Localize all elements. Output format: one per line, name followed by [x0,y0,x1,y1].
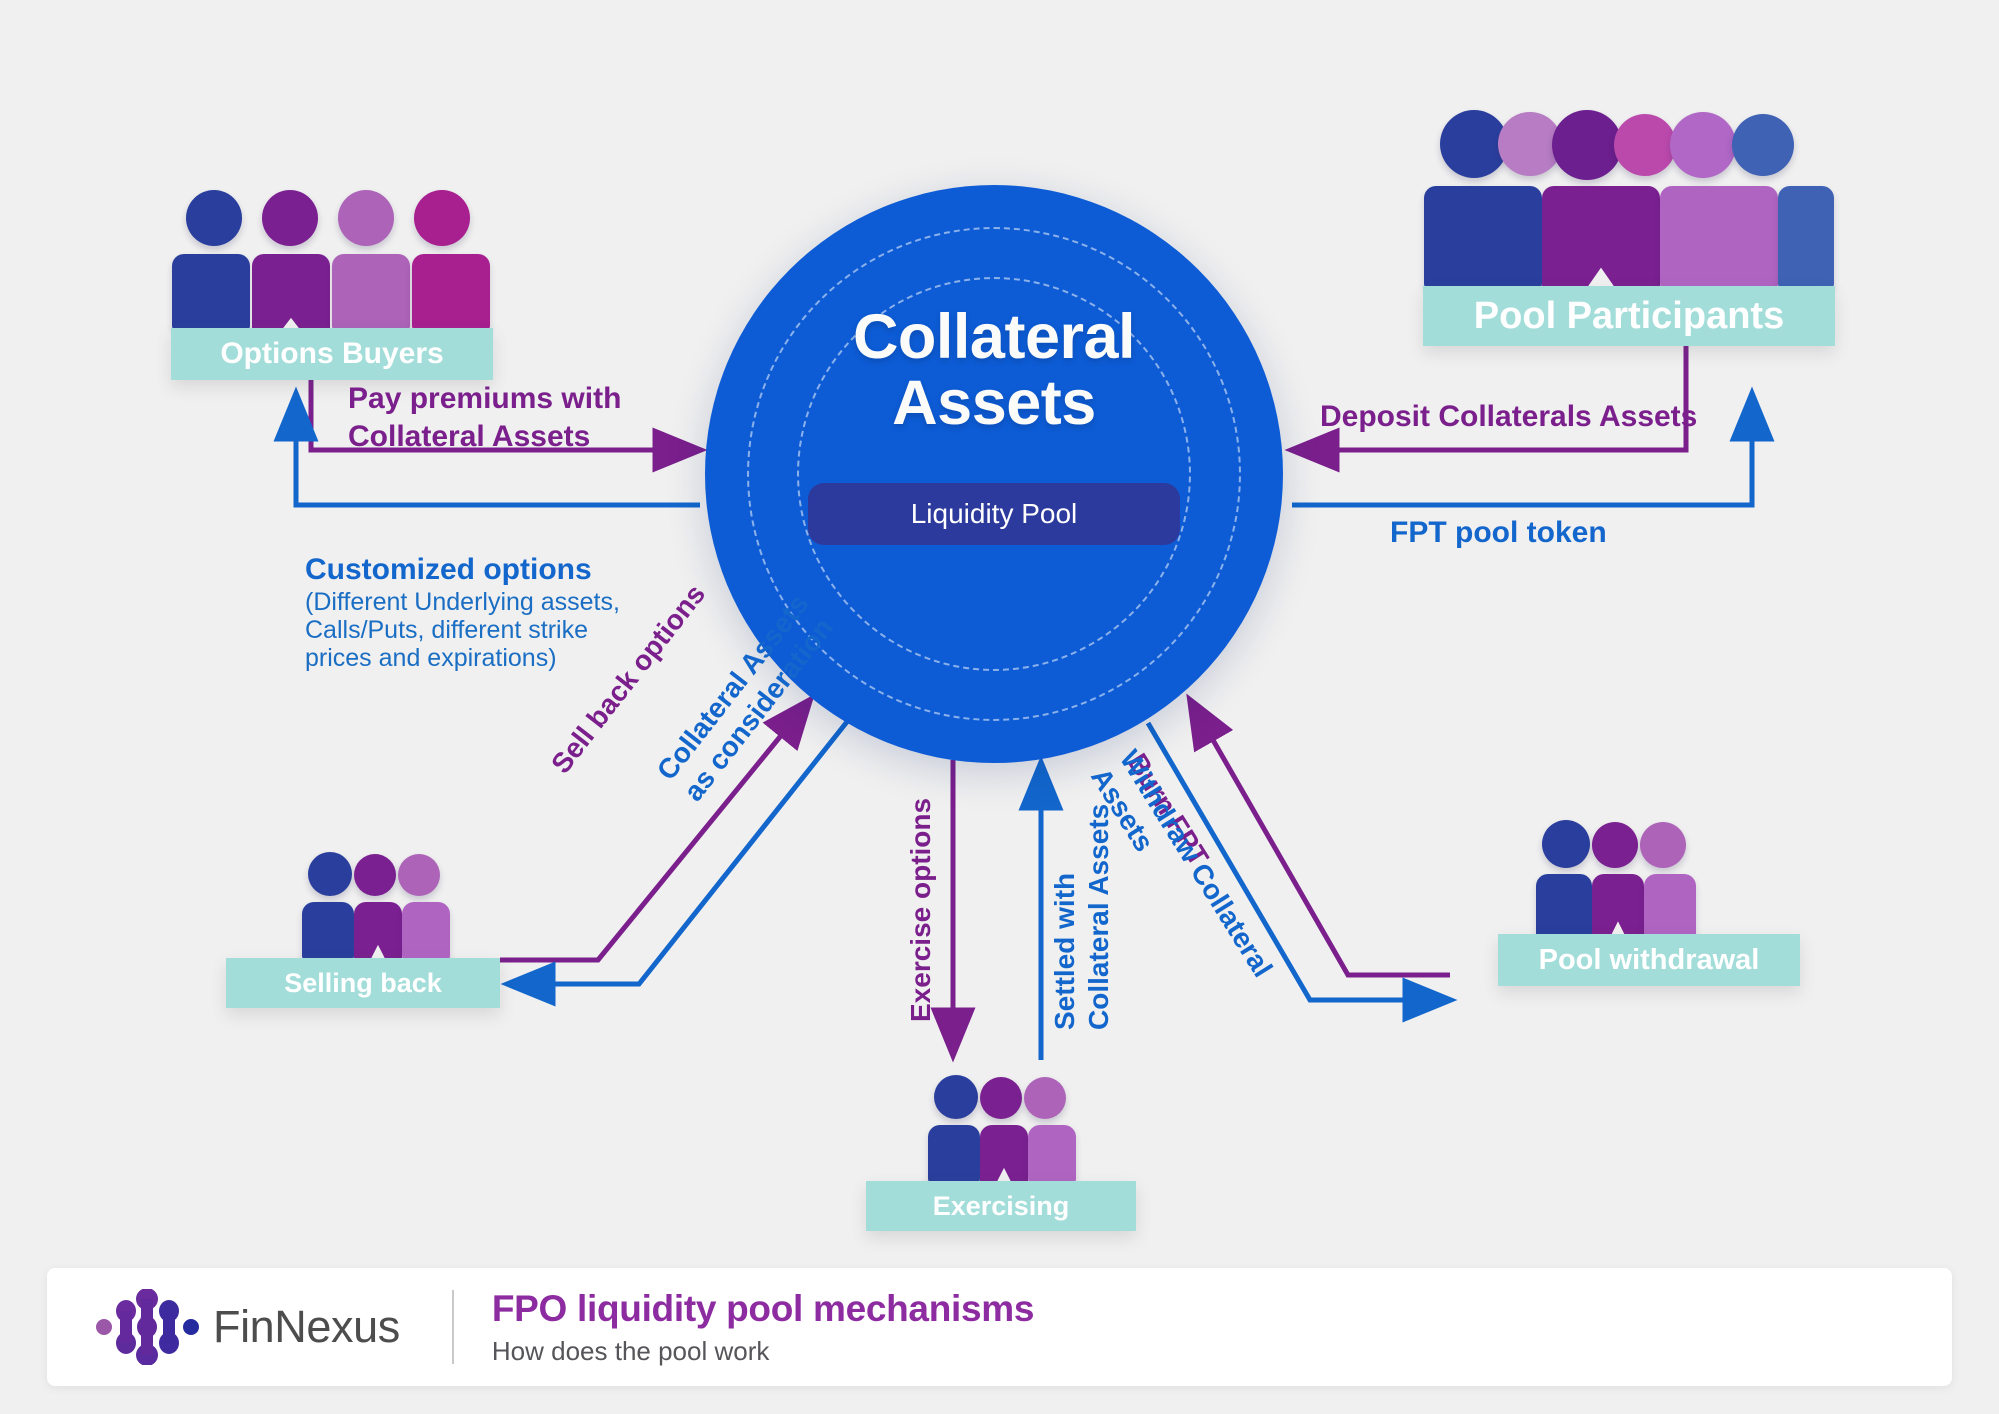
group-selling-back: Selling back [226,852,442,962]
person-body-icon [1660,186,1778,288]
finnexus-logo-icon [95,1289,199,1365]
person-body-icon [402,902,450,960]
group-pool-withdrawal: Pool withdrawal [1498,820,1686,938]
person-head-icon [354,854,396,896]
flow-label-customized-options: Customized options (Different Underlying… [305,516,620,708]
group-label-text: Pool Participants [1474,295,1784,338]
flow-label-exercise-options: Exercise options [905,798,937,1022]
person-head-icon [1614,114,1676,176]
person-head-icon [1592,822,1638,868]
pool-title: CollateralAssets [705,305,1283,436]
flow-label-pay-premiums: Pay premiums with Collateral Assets [348,380,621,455]
group-label-selling-back: Selling back [226,958,500,1008]
group-pool-participants: Pool Participants [1424,110,1834,288]
flow-label-settled-with-collateral: Settled with Collateral Assets [1048,804,1116,1030]
person-body-icon [172,254,250,330]
group-options-buyers: Options Buyers [172,190,494,330]
footer-title: FPO liquidity pool mechanisms [492,1288,1034,1330]
person-head-icon [980,1077,1022,1119]
liquidity-pool-badge-label: Liquidity Pool [911,498,1078,530]
footer-text: FPO liquidity pool mechanisms How does t… [492,1288,1034,1367]
person-head-icon [398,854,440,896]
brand-name: FinNexus [213,1301,400,1353]
group-label-text: Pool withdrawal [1539,944,1760,977]
people-icon-options-buyers [172,190,494,330]
person-head-icon [186,190,242,246]
person-body-icon [980,1125,1028,1183]
pool-title-line2: Assets [892,368,1096,438]
brand-logo: FinNexus [95,1289,400,1365]
group-label-exercising: Exercising [866,1181,1136,1231]
person-body-icon [252,254,330,330]
person-body-icon [302,902,354,960]
person-head-icon [1542,820,1590,868]
person-body-icon [1424,186,1542,288]
group-label-pool-withdrawal: Pool withdrawal [1498,934,1800,986]
people-icon-exercising [928,1075,1068,1185]
group-label-text: Options Buyers [220,337,443,371]
flow-label-fpt-pool-token: FPT pool token [1390,516,1607,550]
person-body-icon [354,902,402,960]
person-head-icon [1732,114,1794,176]
footer-divider [452,1290,454,1364]
footer-subtitle: How does the pool work [492,1336,1034,1367]
group-label-text: Exercising [933,1191,1070,1222]
liquidity-pool-badge: Liquidity Pool [808,483,1180,545]
person-body-icon [1542,186,1660,288]
group-label-text: Selling back [284,968,442,999]
pool-title-line1: Collateral [853,302,1135,372]
people-icon-selling-back [302,852,442,962]
person-body-icon [1644,874,1696,938]
person-body-icon [1028,1125,1076,1183]
person-body-icon [332,254,410,330]
group-label-pool-participants: Pool Participants [1423,286,1835,346]
person-head-icon [1024,1077,1066,1119]
person-head-icon [1552,110,1622,180]
people-icon-pool-participants [1424,110,1834,288]
person-head-icon [262,190,318,246]
footer-bar: FinNexus FPO liquidity pool mechanisms H… [47,1268,1952,1386]
flow-label-deposit-collaterals: Deposit Collaterals Assets [1320,400,1697,434]
person-head-icon [338,190,394,246]
person-head-icon [308,852,352,896]
people-icon-pool-withdrawal [1536,820,1686,938]
person-body-icon [1592,874,1644,938]
person-body-icon [928,1125,980,1183]
person-head-icon [1670,112,1736,178]
infographic-canvas: CollateralAssets Liquidity Pool Options … [0,0,1999,1414]
flow-label-customized-options-detail: (Different Underlying assets, Calls/Puts… [305,588,620,672]
person-body-icon [1536,874,1592,938]
person-body-icon [412,254,490,330]
group-exercising: Exercising [866,1075,1068,1185]
flow-label-customized-options-title: Customized options [305,553,592,586]
person-body-icon [1778,186,1834,288]
person-head-icon [1640,822,1686,868]
person-head-icon [414,190,470,246]
group-label-options-buyers: Options Buyers [171,328,493,380]
person-head-icon [934,1075,978,1119]
